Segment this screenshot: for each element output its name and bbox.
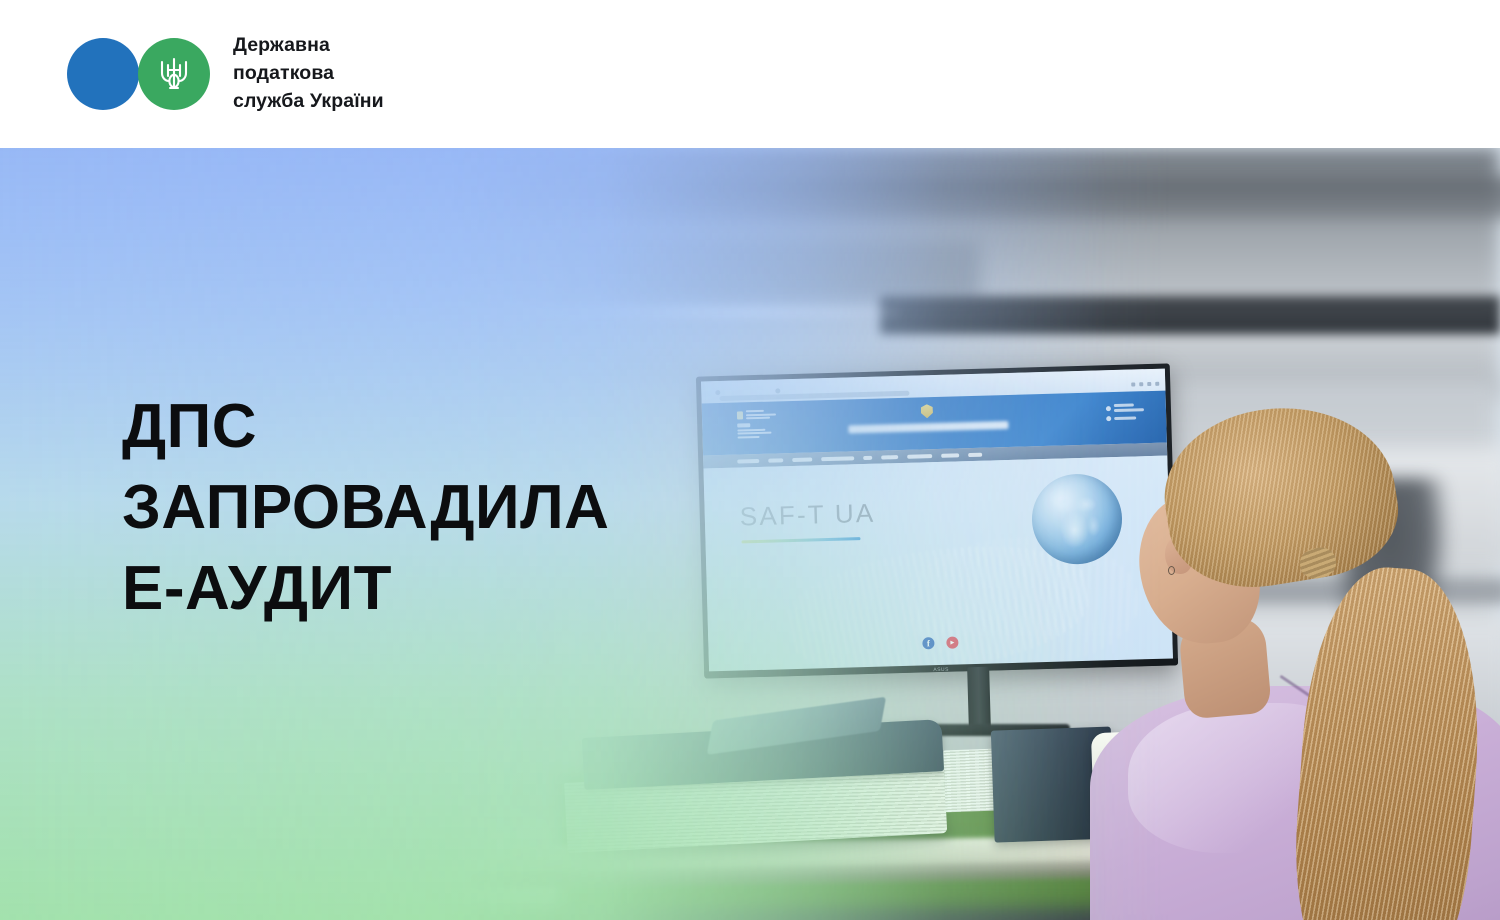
- green-circle-icon: [138, 38, 210, 110]
- organization-name: Державна податкова служба України: [233, 32, 384, 115]
- headline-line-1: ДПС: [122, 386, 609, 467]
- headline-line-2: ЗАПРОВАДИЛА: [122, 467, 609, 548]
- site-header-bar: Державна податкова служба України: [0, 0, 1500, 148]
- headline-line-3: Е-АУДИТ: [122, 548, 609, 629]
- blue-circle-icon: [67, 38, 139, 110]
- tryzub-trident-icon: [157, 54, 191, 94]
- poster-page: Державна податкова служба України: [0, 0, 1500, 920]
- organization-logo[interactable]: Державна податкова служба України: [67, 32, 384, 115]
- page-title: ДПС ЗАПРОВАДИЛА Е-АУДИТ: [122, 386, 609, 630]
- logo-marks: [67, 38, 210, 110]
- hero-banner: SAF-T UA ASUS: [0, 148, 1500, 920]
